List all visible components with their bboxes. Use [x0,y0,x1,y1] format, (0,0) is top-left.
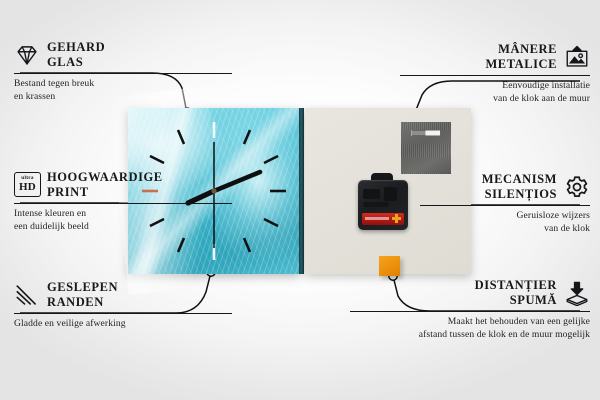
diamond-icon [14,42,40,68]
movement-vent-1 [363,189,380,199]
hd-label: HD [19,182,36,193]
callout-rule [400,75,590,76]
callout-head: ultra HD HOOGWAARDIGE PRINT [14,170,232,200]
callout-manere-metalice: MÂNERE METALICE Eenvoudige installatie v… [400,42,590,105]
spacer-press-icon [564,280,590,306]
bevelled-edges-icon [14,282,40,308]
wall-hanging-icon [564,44,590,70]
callout-title: MECANISM SILENȚIOS [482,172,557,202]
callout-title: GESLEPEN RANDEN [47,280,118,310]
foam-spacer [379,256,400,276]
callout-subtitle: Eenvoudige installatie van de klok aan d… [400,80,590,105]
callout-hoogwaardige-print: ultra HD HOOGWAARDIGE PRINT Intense kleu… [14,170,232,233]
callout-subtitle: Intense kleuren en een duidelijk beeld [14,208,232,233]
battery-label [365,217,389,220]
callout-subtitle: Gladde en veilige afwerking [14,318,232,330]
metal-hanger [401,122,451,174]
callout-mecanism-silentios: MECANISM SILENȚIOS Geruisloze wijzers va… [420,172,590,235]
callout-rule [14,203,232,204]
battery-plus-icon [392,214,401,223]
callout-title: MÂNERE METALICE [485,42,557,72]
callout-subtitle: Maakt het behouden van een gelijke afsta… [350,316,590,341]
callout-head: GESLEPEN RANDEN [14,280,232,310]
movement-body [358,180,408,230]
callout-rule [14,73,232,74]
callout-title: HOOGWAARDIGE PRINT [47,170,163,200]
movement-vent-3 [363,202,389,207]
callout-head: GEHARD GLAS [14,40,232,70]
callout-geslepen-randen: GESLEPEN RANDEN Gladde en veilige afwerk… [14,280,232,331]
callout-title: GEHARD GLAS [47,40,105,70]
callout-rule [420,205,590,206]
ultra-hd-icon: ultra HD [14,172,40,198]
callout-subtitle: Geruisloze wijzers van de klok [420,210,590,235]
quartz-movement [358,180,408,230]
callout-title: DISTANȚIER SPUMĂ [475,278,557,308]
infographic-stage: GEHARD GLAS Bestand tegen breuk en krass… [0,0,600,400]
callout-head: MÂNERE METALICE [400,42,590,72]
callout-distantier-spuma: DISTANȚIER SPUMĂ Maakt het behouden van … [350,278,590,341]
hanger-slot [411,130,441,136]
movement-vent-2 [384,187,397,201]
callout-rule [14,313,232,314]
gear-icon [564,174,590,200]
callout-subtitle: Bestand tegen breuk en krassen [14,78,232,103]
callout-rule [350,311,590,312]
callout-gehard-glas: GEHARD GLAS Bestand tegen breuk en krass… [14,40,232,103]
battery [362,213,404,225]
callout-head: DISTANȚIER SPUMĂ [350,278,590,308]
callout-head: MECANISM SILENȚIOS [420,172,590,202]
